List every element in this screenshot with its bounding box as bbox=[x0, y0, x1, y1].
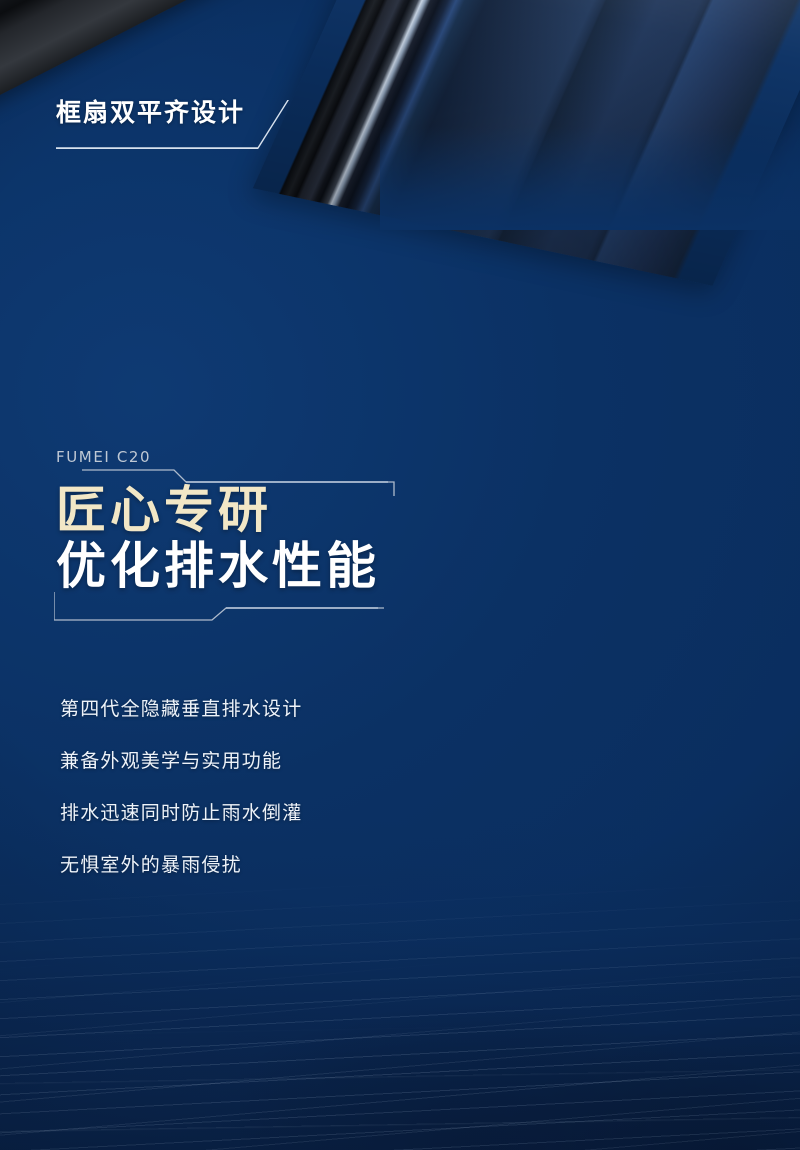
top-caption-label: 框扇双平齐设计 bbox=[56, 100, 245, 125]
feature-bullet-item: 第四代全隐藏垂直排水设计 bbox=[60, 700, 480, 719]
feature-bullet-item: 排水迅速同时防止雨水倒灌 bbox=[60, 804, 480, 823]
headline-block: FUMEI C20 匠心专研 优化排水性能 bbox=[56, 450, 416, 594]
headline-eyebrow: FUMEI C20 bbox=[56, 450, 416, 468]
feature-bullet-item: 兼备外观美学与实用功能 bbox=[60, 752, 480, 771]
feature-bullet-list: 第四代全隐藏垂直排水设计 兼备外观美学与实用功能 排水迅速同时防止雨水倒灌 无惧… bbox=[60, 700, 480, 875]
headline-line-2: 优化排水性能 bbox=[56, 538, 416, 594]
product-feature-poster: 框扇双平齐设计 FUMEI C20 匠心专研 优化排水性能 第四代全隐藏垂直排水… bbox=[0, 0, 800, 1150]
headline-line-1: 匠心专研 bbox=[56, 482, 416, 538]
top-caption-underline bbox=[56, 148, 258, 149]
top-caption-block: 框扇双平齐设计 bbox=[56, 100, 656, 160]
feature-bullet-item: 无惧室外的暴雨侵扰 bbox=[60, 856, 480, 875]
